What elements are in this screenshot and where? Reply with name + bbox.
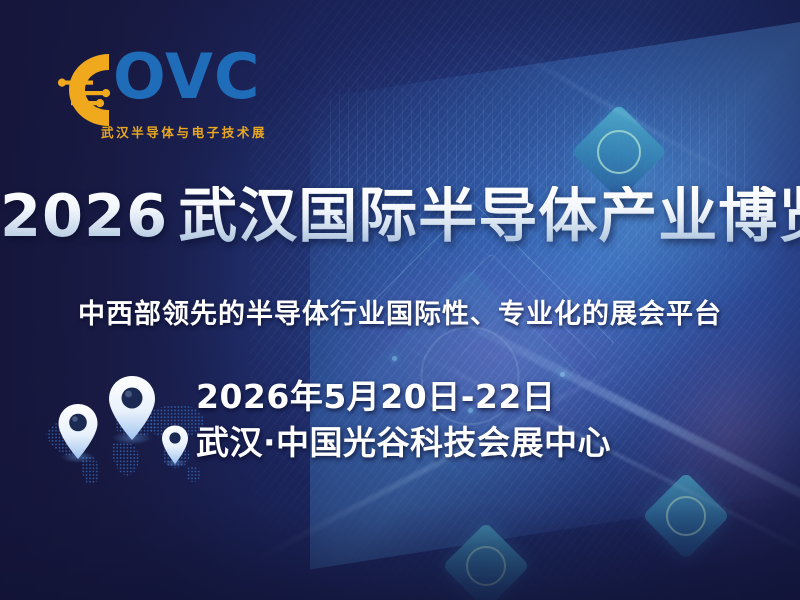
ovc-wordmark: OVC	[113, 46, 261, 108]
chip-module-bottom-right	[642, 472, 730, 560]
poster-headline: 2026武汉国际半导体产业博览会	[0, 186, 800, 245]
event-venue: 武汉·中国光谷科技会展中心	[196, 420, 611, 466]
map-pins-graphic	[38, 372, 208, 492]
location-pin-center-icon	[106, 374, 158, 446]
event-poster: OVC 武汉半导体与电子技术展 2026武汉国际半导体产业博览会 中西部领先的半…	[0, 0, 800, 600]
event-date: 2026年5月20日-22日	[196, 374, 611, 420]
ovc-circuit-c-mark-icon	[57, 50, 119, 130]
ovc-logo[interactable]: OVC 武汉半导体与电子技术展	[57, 48, 237, 146]
location-pin-left-icon	[56, 402, 100, 464]
magenta-haze-lower-right	[600, 300, 800, 600]
location-pin-right-icon	[160, 424, 190, 468]
poster-tagline: 中西部领先的半导体行业国际性、专业化的展会平台	[0, 292, 800, 331]
ovc-logo-subtitle: 武汉半导体与电子技术展	[101, 122, 267, 141]
event-info-block: 2026年5月20日-22日 武汉·中国光谷科技会展中心	[196, 374, 611, 465]
headline-year: 2026	[0, 181, 168, 250]
headline-text: 武汉国际半导体产业博览会	[178, 181, 800, 250]
chip-module-bottom-center	[442, 522, 530, 600]
